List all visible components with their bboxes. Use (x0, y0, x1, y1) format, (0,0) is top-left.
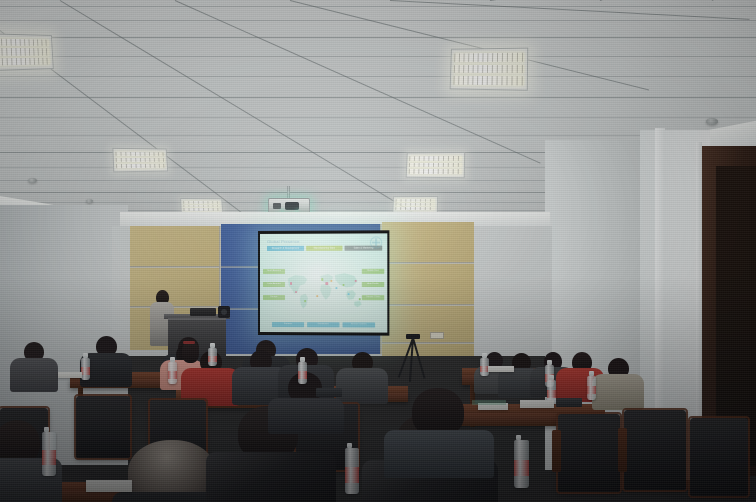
wall-plate (430, 332, 444, 339)
audience-person-beige (592, 374, 644, 410)
desk-mat (472, 400, 506, 405)
map-marker (295, 291, 297, 293)
podium-camera (218, 306, 230, 318)
handout-paper[interactable] (58, 372, 82, 378)
water-bottle[interactable] (587, 376, 596, 400)
chair[interactable] (624, 410, 686, 490)
projection-screen: Global Presence Research & Development M… (258, 230, 389, 335)
slide-left-box-3: Europe (263, 295, 285, 300)
slide-left-box-2: Latin America (263, 282, 285, 287)
map-marker (326, 282, 329, 285)
laptop[interactable] (556, 398, 582, 407)
ceiling-light-fixture (406, 152, 465, 178)
handout-paper[interactable] (488, 366, 514, 372)
handout-paper[interactable] (86, 480, 132, 492)
laptop[interactable] (316, 388, 342, 397)
audience-head (412, 388, 464, 436)
water-bottle[interactable] (42, 432, 56, 476)
chair-arm (618, 428, 627, 472)
map-marker (316, 295, 318, 297)
ceiling-light-fixture (450, 48, 529, 91)
hair-clip (183, 341, 195, 344)
slide-left-box-1: North America (263, 269, 285, 274)
slide-right-box-2: Asia Pacific (362, 282, 384, 287)
water-bottle[interactable] (345, 448, 359, 494)
slide-right-box-1: Middle East (362, 269, 384, 274)
podium-laptop (190, 308, 216, 316)
chair[interactable] (558, 414, 620, 492)
slide-header-2: Manufacturing Sites (306, 246, 343, 252)
water-bottle[interactable] (168, 362, 177, 384)
audience-person (268, 398, 344, 434)
ceiling-speaker-icon (28, 178, 37, 183)
audience-person (384, 430, 494, 478)
ceiling-light-fixture (0, 33, 54, 71)
slide-header-1: Research & Development (267, 246, 304, 252)
map-marker (321, 278, 323, 280)
chair[interactable] (690, 418, 748, 496)
slide-bottom-box-2: Distributors (307, 322, 339, 327)
water-bottle[interactable] (208, 348, 217, 366)
map-marker (304, 300, 306, 302)
conference-room-photo: Global Presence Research & Development M… (0, 0, 756, 502)
projection-screen-surface: Global Presence Research & Development M… (260, 233, 387, 332)
slide-bottom-row: Partners Distributors Service Centres (272, 322, 375, 328)
slide-title: Global Presence (267, 238, 382, 244)
audience-person (10, 358, 58, 392)
slide-bottom-box-3: Service Centres (343, 322, 376, 327)
handout-paper[interactable] (520, 400, 554, 408)
slide-bottom-box-1: Partners (272, 322, 304, 327)
chair[interactable] (76, 396, 130, 458)
slide-header-row: Research & Development Manufacturing Sit… (267, 246, 382, 252)
ceiling-light-fixture (112, 148, 168, 173)
water-bottle[interactable] (298, 362, 307, 384)
slide-right-box-3: Greater China (362, 295, 384, 300)
water-bottle[interactable] (81, 358, 90, 380)
slide: Global Presence Research & Development M… (260, 233, 387, 332)
audience-person-leather (206, 452, 336, 502)
audience-person (336, 368, 388, 404)
ceiling-light-fixture (392, 196, 438, 213)
ceiling-speaker-icon (86, 199, 93, 203)
downlight-icon (706, 118, 718, 125)
water-bottle[interactable] (514, 440, 529, 488)
chair-arm (552, 430, 561, 472)
audience-head (182, 341, 199, 363)
map-marker (335, 287, 337, 289)
